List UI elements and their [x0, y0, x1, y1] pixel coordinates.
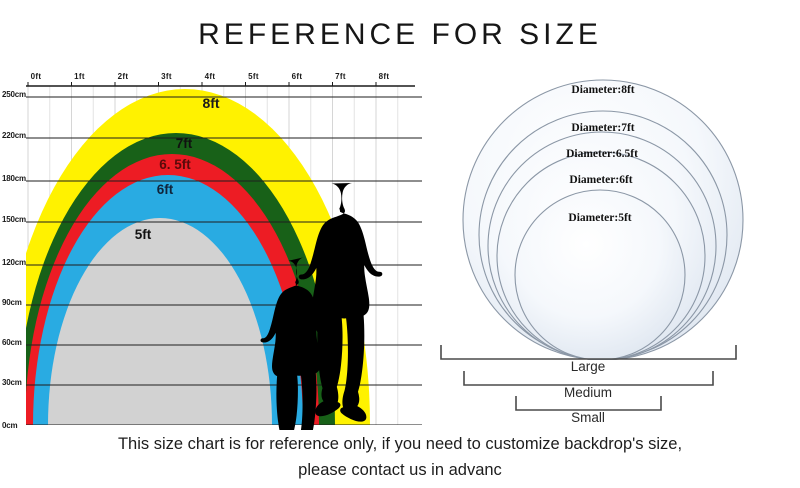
- y-tick-220cm: 220cm: [2, 131, 26, 140]
- caption-line-1: This size chart is for reference only, i…: [118, 435, 682, 453]
- size-reference-chart: REFERENCE FOR SIZE: [0, 0, 800, 488]
- x-tick-5ft: 5ft: [248, 72, 259, 81]
- x-tick-2ft: 2ft: [118, 72, 129, 81]
- disc-label-6ft: Diameter:6ft: [569, 174, 632, 186]
- y-tick-90cm: 90cm: [2, 298, 22, 307]
- arc-label-8ft: 8ft: [202, 95, 219, 111]
- page-title: REFERENCE FOR SIZE: [0, 18, 800, 52]
- bracket-label-large: Large: [571, 359, 606, 374]
- height-reference-chart: 250cm 220cm 180cm 150cm 120cm 90cm 60cm …: [0, 72, 430, 430]
- disc-label-8ft: Diameter:8ft: [571, 84, 634, 96]
- nested-circles-svg: [420, 60, 800, 360]
- bracket-label-small: Small: [571, 410, 605, 425]
- y-tick-180cm: 180cm: [2, 174, 26, 183]
- x-tick-0ft: 0ft: [31, 72, 42, 81]
- arc-label-6ft: 6ft: [157, 182, 174, 197]
- y-tick-30cm: 30cm: [2, 378, 22, 387]
- disc-label-7ft: Diameter:7ft: [571, 122, 634, 134]
- disc-label-5ft: Diameter:5ft: [568, 212, 631, 224]
- y-tick-150cm: 150cm: [2, 215, 26, 224]
- disclaimer-caption: This size chart is for reference only, i…: [30, 432, 770, 483]
- y-tick-250cm: 250cm: [2, 90, 26, 99]
- y-tick-0cm: 0cm: [2, 421, 17, 430]
- y-tick-120cm: 120cm: [2, 258, 26, 267]
- arc-label-6p5ft: 6. 5ft: [159, 157, 191, 172]
- size-brackets: Large Medium Small: [420, 340, 800, 430]
- x-tick-1ft: 1ft: [74, 72, 85, 81]
- x-tick-6ft: 6ft: [292, 72, 303, 81]
- height-chart-svg: [0, 72, 430, 430]
- arc-label-5ft: 5ft: [135, 227, 152, 242]
- bracket-label-medium: Medium: [564, 385, 612, 400]
- x-tick-7ft: 7ft: [335, 72, 346, 81]
- x-tick-3ft: 3ft: [161, 72, 172, 81]
- arc-label-7ft: 7ft: [176, 136, 193, 151]
- disc-label-6p5ft: Diameter:6.5ft: [566, 148, 638, 160]
- x-tick-8ft: 8ft: [379, 72, 390, 81]
- bracket-large: [441, 345, 736, 359]
- y-tick-60cm: 60cm: [2, 338, 22, 347]
- x-tick-4ft: 4ft: [205, 72, 216, 81]
- caption-line-2: please contact us in advanc: [30, 458, 770, 484]
- diameter-reference-panel: Diameter:8ft Diameter:7ft Diameter:6.5ft…: [420, 60, 800, 360]
